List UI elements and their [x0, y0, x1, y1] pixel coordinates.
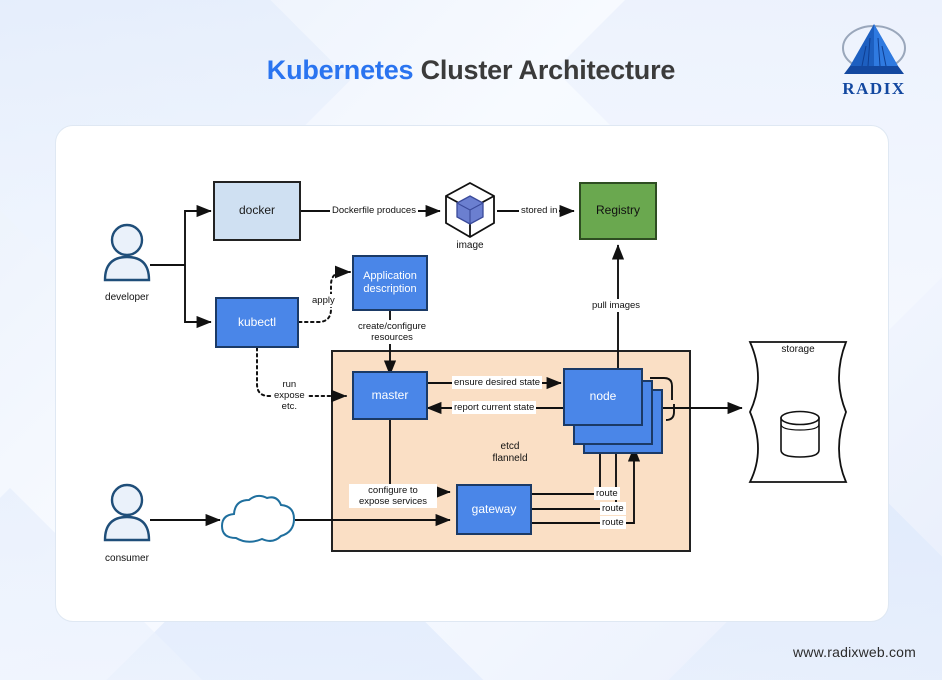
kubectl-box[interactable]: kubectl [215, 297, 299, 348]
application-description-box[interactable]: Application description [352, 255, 428, 311]
edge-label-apply: apply [310, 294, 337, 307]
docker-box[interactable]: docker [213, 181, 301, 241]
master-label: master [372, 389, 409, 403]
radix-logo: RADIX [828, 12, 920, 104]
application-description-label: Application description [363, 270, 417, 295]
gateway-box[interactable]: gateway [456, 484, 532, 535]
master-box[interactable]: master [352, 371, 428, 420]
cluster-inner-label: etcd flanneld [480, 441, 540, 465]
footer-website: www.radixweb.com [793, 644, 916, 660]
page-title-rest: Cluster Architecture [413, 55, 675, 85]
registry-box[interactable]: Registry [579, 182, 657, 240]
gateway-label: gateway [472, 503, 517, 517]
edge-label-route-2: route [600, 502, 626, 515]
docker-label: docker [239, 204, 275, 218]
edge-label-run-expose-etc: run expose etc. [272, 378, 307, 414]
edge-label-stored-in: stored in [519, 204, 559, 217]
storage-label: storage [748, 344, 848, 355]
image-label: image [425, 240, 515, 251]
consumer-icon [100, 482, 154, 544]
edge-label-dockerfile-produces: Dockerfile produces [330, 204, 418, 217]
consumer-label: consumer [82, 553, 172, 564]
edge-label-configure-expose-services: configure to expose services [349, 484, 437, 508]
registry-label: Registry [596, 204, 640, 218]
edge-label-pull-images: pull images [590, 299, 642, 312]
page-title: Kubernetes Cluster Architecture [0, 55, 942, 86]
edge-label-report-current-state: report current state [452, 401, 536, 414]
edge-label-ensure-desired-state: ensure desired state [452, 376, 542, 389]
svg-text:RADIX: RADIX [842, 79, 905, 98]
developer-icon [100, 222, 154, 284]
edge-label-create-configure-resources: create/configure resources [352, 320, 432, 344]
edge-label-route-1: route [594, 487, 620, 500]
edge-label-route-3: route [600, 516, 626, 529]
node-label: node [590, 390, 617, 404]
developer-label: developer [82, 292, 172, 303]
image-cube-icon [441, 180, 499, 242]
database-cylinder-icon [778, 410, 822, 460]
kubectl-label: kubectl [238, 316, 276, 330]
internet-cloud-icon [218, 492, 298, 548]
node-box-front[interactable]: node [563, 368, 643, 426]
page-title-highlight: Kubernetes [267, 55, 414, 85]
